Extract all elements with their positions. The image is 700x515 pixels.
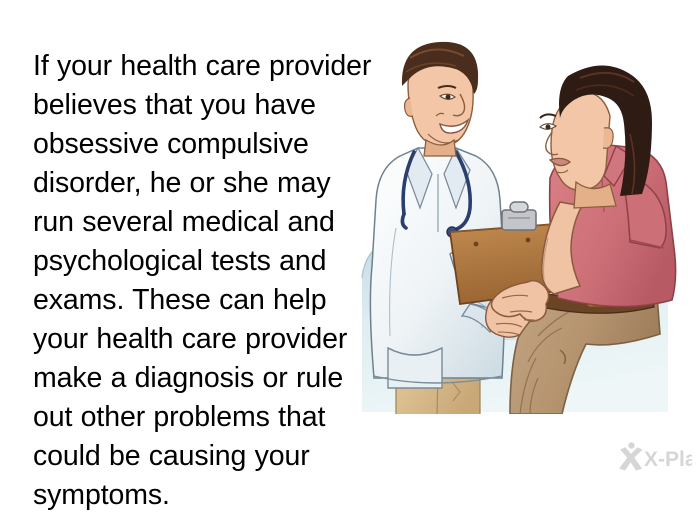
x-plain-logo: X-Plain — [618, 441, 692, 472]
slide-canvas: If your health care provider believes th… — [0, 0, 700, 480]
doctor-head — [402, 42, 478, 156]
body-text: If your health care provider believes th… — [33, 47, 373, 515]
clipboard-clip — [502, 202, 536, 230]
x-plain-figure-icon — [619, 442, 643, 470]
medical-illustration — [352, 32, 682, 414]
x-plain-logo-text: X-Plain — [644, 448, 692, 471]
